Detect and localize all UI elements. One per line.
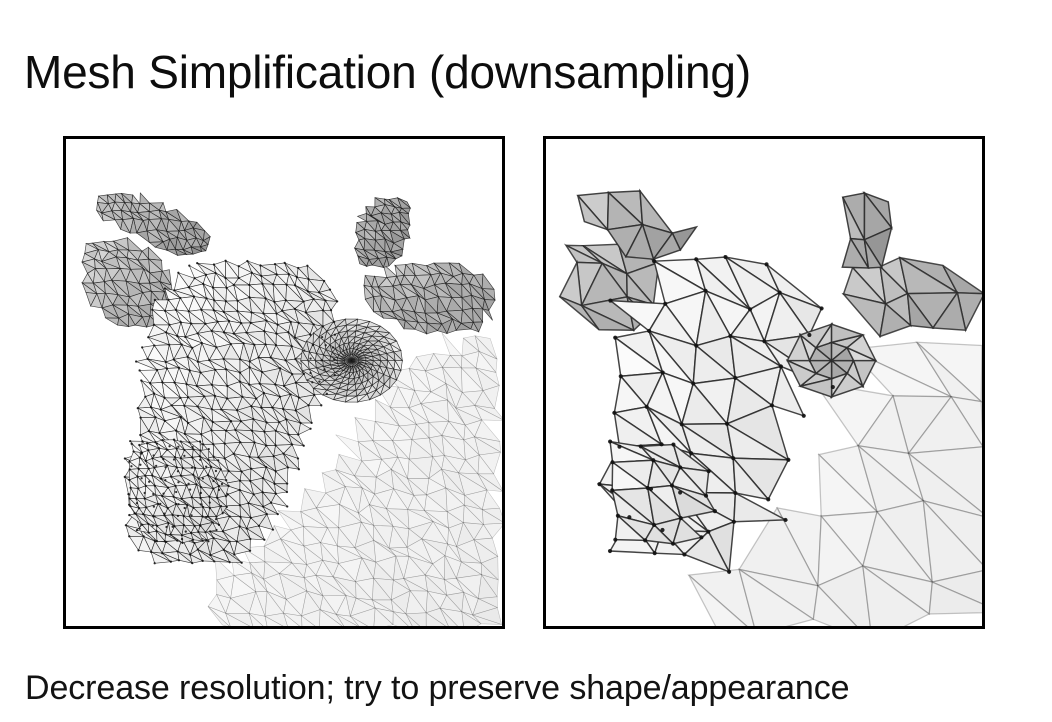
coarse-mesh-figure	[546, 139, 982, 626]
dense-mesh-figure	[66, 139, 502, 626]
mesh-panel-dense	[63, 136, 505, 629]
page-title: Mesh Simplification (downsampling)	[24, 42, 1024, 104]
slide-root: Mesh Simplification (downsampling) Decre…	[0, 0, 1052, 722]
mesh-panel-coarse	[543, 136, 985, 629]
slide-caption: Decrease resolution; try to preserve sha…	[25, 666, 1025, 710]
